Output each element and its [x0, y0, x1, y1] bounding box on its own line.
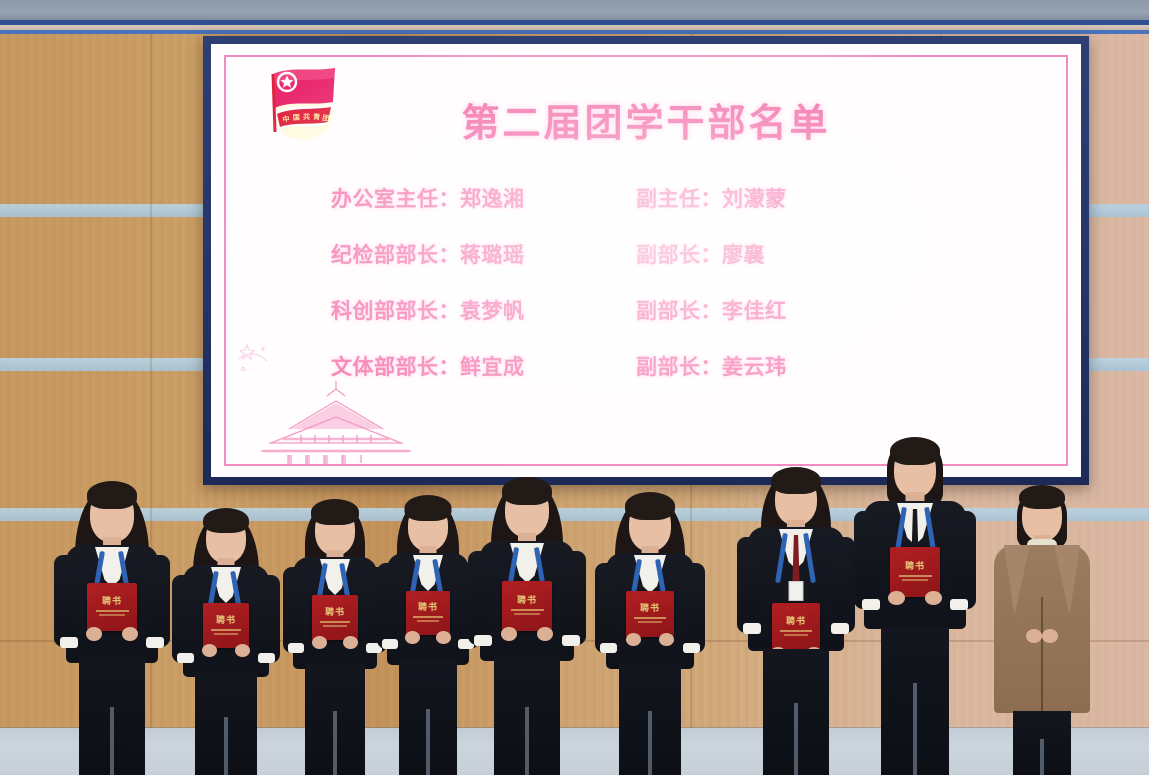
- certificate-subline: [323, 625, 347, 627]
- arm-right: [258, 575, 280, 663]
- shirt-cuff: [743, 623, 761, 634]
- certificate-subline: [511, 609, 544, 611]
- id-badge: [789, 581, 804, 601]
- hand: [501, 627, 517, 641]
- person-6: 聘书: [593, 487, 707, 775]
- hand: [405, 631, 420, 644]
- hand: [202, 644, 217, 657]
- leg-gap: [648, 711, 652, 775]
- arm-right: [562, 551, 586, 645]
- arm-right: [146, 555, 170, 647]
- certificate-subline: [638, 621, 663, 623]
- award-recipients-row: 聘书 聘书: [0, 415, 1149, 775]
- arm-left: [172, 575, 194, 663]
- appointment-certificate: 聘书: [502, 581, 552, 631]
- appointment-certificate: 聘书: [87, 583, 137, 631]
- appointment-certificate: 聘书: [626, 591, 674, 637]
- roster-primary-post: 科创部部长：袁梦帆: [331, 295, 636, 325]
- shirt-cuff: [950, 599, 968, 610]
- certificate-title: 聘书: [640, 605, 660, 614]
- certificate-subline: [902, 579, 928, 581]
- certificate-subline: [634, 617, 666, 619]
- hair-top: [890, 437, 940, 465]
- certificate-subline: [99, 614, 125, 616]
- shirt-cuff: [60, 637, 78, 648]
- hand: [122, 627, 138, 641]
- certificate-title: 聘书: [325, 609, 345, 618]
- certificate-subline: [780, 630, 812, 632]
- arm-right: [951, 511, 976, 609]
- certificate-title: 聘书: [102, 598, 122, 607]
- hand: [1042, 629, 1058, 643]
- person-9: [982, 477, 1102, 775]
- hand: [235, 644, 250, 657]
- shirt-cuff: [831, 623, 849, 634]
- hair-top: [1019, 485, 1065, 509]
- hair-top: [502, 477, 552, 505]
- certificate-subline: [514, 613, 540, 615]
- shirt-cuff: [146, 637, 164, 648]
- arm-right: [683, 563, 705, 653]
- certificate-title: 聘书: [517, 597, 537, 606]
- leg-gap: [110, 707, 114, 775]
- certificate-subline: [96, 610, 129, 612]
- coat-center-seam: [1041, 597, 1043, 713]
- appointment-certificate: 聘书: [890, 547, 940, 597]
- shirt-cuff: [177, 653, 194, 663]
- ceremony-photo-scene: 中 国 共 青 团 第二届团学干部名单 办公室主任：郑逸湘: [0, 0, 1149, 775]
- arm-left: [54, 555, 78, 647]
- certificate-subline: [784, 634, 809, 636]
- arm-left: [468, 551, 492, 645]
- arm-left: [854, 511, 879, 609]
- hand: [626, 633, 641, 646]
- hand: [343, 636, 358, 649]
- appointment-certificate: 聘书: [312, 595, 358, 640]
- arm-left: [283, 567, 304, 653]
- shirt-cuff: [562, 635, 580, 646]
- certificate-title: 聘书: [905, 563, 925, 572]
- hair-top: [625, 492, 675, 520]
- slide-title: 第二届团学干部名单: [211, 92, 1081, 147]
- certificate-title: 聘书: [418, 604, 438, 613]
- leg-gap: [333, 711, 337, 775]
- arm-left: [737, 537, 761, 633]
- presentation-slide: 中 国 共 青 团 第二届团学干部名单 办公室主任：郑逸湘: [211, 44, 1081, 477]
- hair-top: [203, 508, 249, 533]
- appointment-certificate: 聘书: [772, 603, 820, 651]
- roster-primary-post: 办公室主任：郑逸湘: [331, 183, 636, 213]
- shirt-cuff: [382, 639, 398, 649]
- roster-primary-post: 纪检部部长：蒋璐瑶: [331, 239, 636, 269]
- shirt-cuff: [862, 599, 880, 610]
- hand: [925, 591, 942, 605]
- leg-gap: [525, 707, 529, 775]
- person-2: 聘书: [170, 503, 282, 775]
- roster-row: 科创部部长：袁梦帆 副部长：李佳红: [331, 282, 1021, 338]
- hand: [436, 631, 451, 644]
- roster-row: 办公室主任：郑逸湘 副主任：刘濛蒙: [331, 170, 1021, 226]
- person-7: 聘书: [735, 463, 857, 775]
- certificate-title: 聘书: [216, 617, 236, 626]
- shirt-cuff: [683, 643, 700, 653]
- projector-screen: 中 国 共 青 团 第二届团学干部名单 办公室主任：郑逸湘: [211, 44, 1081, 477]
- roster-deputy-post: 副部长：李佳红: [636, 295, 787, 325]
- certificate-subline: [320, 621, 350, 623]
- person-5: 聘书: [466, 473, 588, 775]
- hair-top: [87, 481, 137, 509]
- hand: [537, 627, 553, 641]
- hand: [312, 636, 327, 649]
- certificate-subline: [211, 629, 241, 631]
- hair-top: [771, 467, 821, 494]
- person-1: 聘书: [52, 475, 172, 775]
- leg-gap: [913, 683, 917, 775]
- certificate-subline: [417, 620, 440, 622]
- shirt-cuff: [600, 643, 617, 653]
- roster-deputy-post: 副主任：刘濛蒙: [636, 183, 787, 213]
- arm-left: [595, 563, 617, 653]
- hair-top: [405, 495, 452, 521]
- roster-deputy-post: 副部长：姜云玮: [636, 351, 787, 381]
- hair-top: [311, 499, 359, 525]
- certificate-title: 聘书: [786, 618, 806, 627]
- hand: [659, 633, 674, 646]
- person-8: 聘书: [852, 435, 978, 775]
- roster-deputy-post: 副部长：廖襄: [636, 239, 765, 269]
- certificate-subline: [413, 616, 442, 618]
- hand: [888, 591, 905, 605]
- shirt-cuff: [288, 643, 304, 653]
- certificate-subline: [899, 575, 932, 577]
- leg-gap: [1040, 739, 1044, 775]
- certificate-subline: [214, 633, 238, 635]
- shirt-cuff: [474, 635, 492, 646]
- person-3: 聘书: [281, 493, 389, 775]
- hand: [86, 627, 102, 641]
- appointment-certificate: 聘书: [203, 603, 249, 648]
- shirt-cuff: [258, 653, 275, 663]
- hand: [1026, 629, 1042, 643]
- leg-gap: [426, 709, 430, 775]
- arm-left: [377, 563, 398, 649]
- leg-gap: [224, 717, 228, 775]
- coat-lapel-left: [1004, 545, 1030, 615]
- leg-gap: [794, 703, 798, 775]
- coat-lapel-right: [1054, 545, 1080, 615]
- ceiling-panel: [0, 0, 1149, 22]
- appointment-certificate: 聘书: [406, 591, 450, 635]
- roster-row: 纪检部部长：蒋璐瑶 副部长：廖襄: [331, 226, 1021, 282]
